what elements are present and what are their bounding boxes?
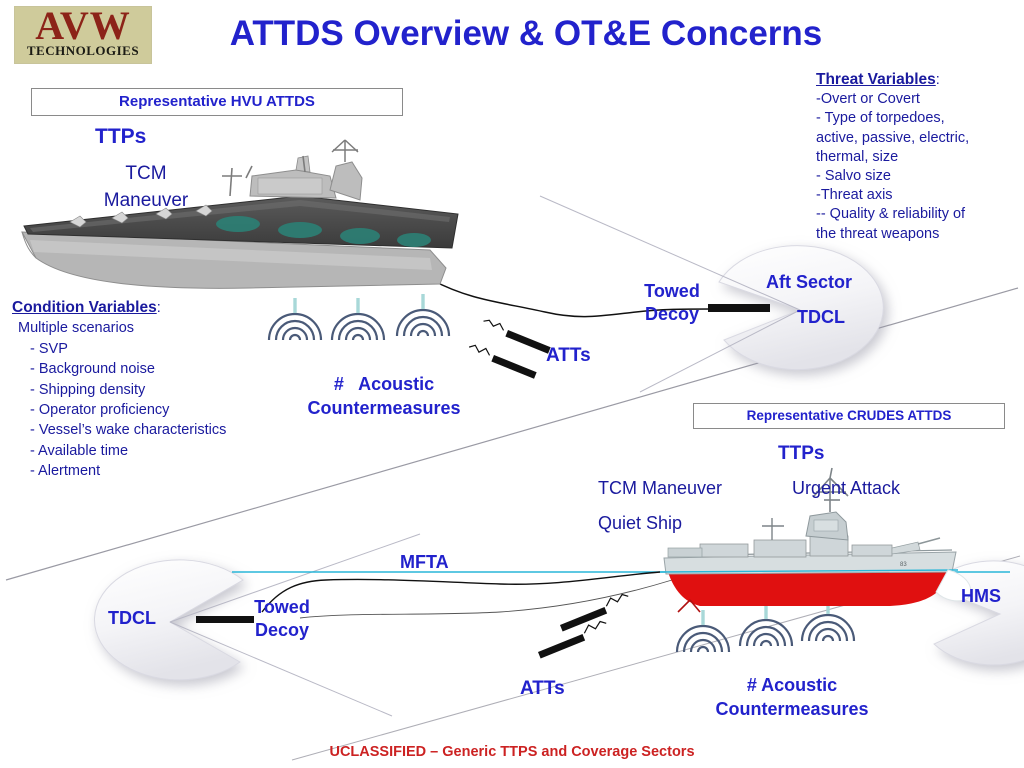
slide-canvas: 83 AVW TECHNOLOGIES ATTDS Overview & OT&… bbox=[0, 0, 1024, 768]
condition-variables-item: - Background noise bbox=[12, 359, 312, 379]
condition-variables-item: - Shipping density bbox=[12, 380, 312, 400]
hvu-tcm-maneuver-label: TCM Maneuver bbox=[86, 160, 206, 214]
threat-variables-line: thermal, size bbox=[816, 148, 1024, 167]
threat-variables-line: - Salvo size bbox=[816, 167, 1024, 186]
crudes-quiet-ship-label: Quiet Ship bbox=[598, 513, 682, 534]
crudes-towed-decoy-label: Towed Decoy bbox=[237, 596, 327, 642]
logo-wordmark: AVW bbox=[15, 6, 151, 47]
aft-sector-label: Aft Sector bbox=[766, 272, 852, 293]
threat-variables-line: -Overt or Covert bbox=[816, 90, 1024, 109]
crudes-tdcl-label: TDCL bbox=[108, 608, 156, 629]
threat-variables-line: the threat weapons bbox=[816, 225, 1024, 244]
condition-variables-item: - Available time bbox=[12, 441, 312, 461]
hvu-atts-label: ATTs bbox=[546, 345, 591, 367]
condition-variables-block: Condition Variables: Multiple scenarios … bbox=[12, 298, 312, 482]
crudes-atts-label: ATTs bbox=[520, 678, 565, 700]
representative-crudes-attds-header: Representative CRUDES ATTDS bbox=[693, 403, 1005, 429]
condition-variables-item: - Operator proficiency bbox=[12, 400, 312, 420]
avw-technologies-logo: AVW TECHNOLOGIES bbox=[14, 6, 152, 64]
crudes-tcm-maneuver-label: TCM Maneuver bbox=[598, 478, 722, 499]
condition-variables-intro: Multiple scenarios bbox=[12, 318, 312, 338]
hms-label: HMS bbox=[961, 586, 1001, 607]
condition-variables-heading: Condition Variables: bbox=[12, 298, 312, 318]
hvu-ttps-label: TTPs bbox=[95, 125, 146, 149]
threat-variables-heading: Threat Variables: bbox=[816, 70, 1024, 90]
representative-hvu-attds-header: Representative HVU ATTDS bbox=[31, 88, 403, 116]
condition-variables-item: - SVP bbox=[12, 339, 312, 359]
crudes-ttps-label: TTPs bbox=[778, 443, 824, 465]
page-title: ATTDS Overview & OT&E Concerns bbox=[176, 14, 876, 54]
logo-subtitle: TECHNOLOGIES bbox=[15, 43, 151, 59]
condition-variables-heading-text: Condition Variables bbox=[12, 299, 157, 316]
crudes-acoustic-countermeasures-label: # Acoustic Countermeasures bbox=[672, 673, 912, 721]
hvu-towed-decoy-label: Towed Decoy bbox=[628, 280, 716, 326]
hvu-acoustic-countermeasures-label: # Acoustic Countermeasures bbox=[268, 372, 500, 420]
crudes-urgent-attack-label: Urgent Attack bbox=[792, 478, 900, 499]
threat-variables-line: - Type of torpedoes, bbox=[816, 109, 1024, 128]
svg-text:83: 83 bbox=[900, 562, 907, 568]
threat-variables-heading-text: Threat Variables bbox=[816, 71, 936, 88]
hvu-tdcl-label: TDCL bbox=[797, 307, 845, 328]
threat-variables-block: Threat Variables: -Overt or Covert - Typ… bbox=[816, 70, 1024, 244]
classification-footer: UCLASSIFIED – Generic TTPS and Coverage … bbox=[0, 744, 1024, 760]
mfta-label: MFTA bbox=[400, 552, 449, 573]
threat-variables-line: -- Quality & reliability of bbox=[816, 205, 1024, 224]
condition-variables-item: - Vessel’s wake characteristics bbox=[12, 420, 312, 440]
condition-variables-heading-colon: : bbox=[157, 300, 161, 316]
threat-variables-heading-colon: : bbox=[936, 72, 940, 88]
threat-variables-line: active, passive, electric, bbox=[816, 129, 1024, 148]
threat-variables-line: -Threat axis bbox=[816, 186, 1024, 205]
condition-variables-item: - Alertment bbox=[12, 461, 312, 481]
